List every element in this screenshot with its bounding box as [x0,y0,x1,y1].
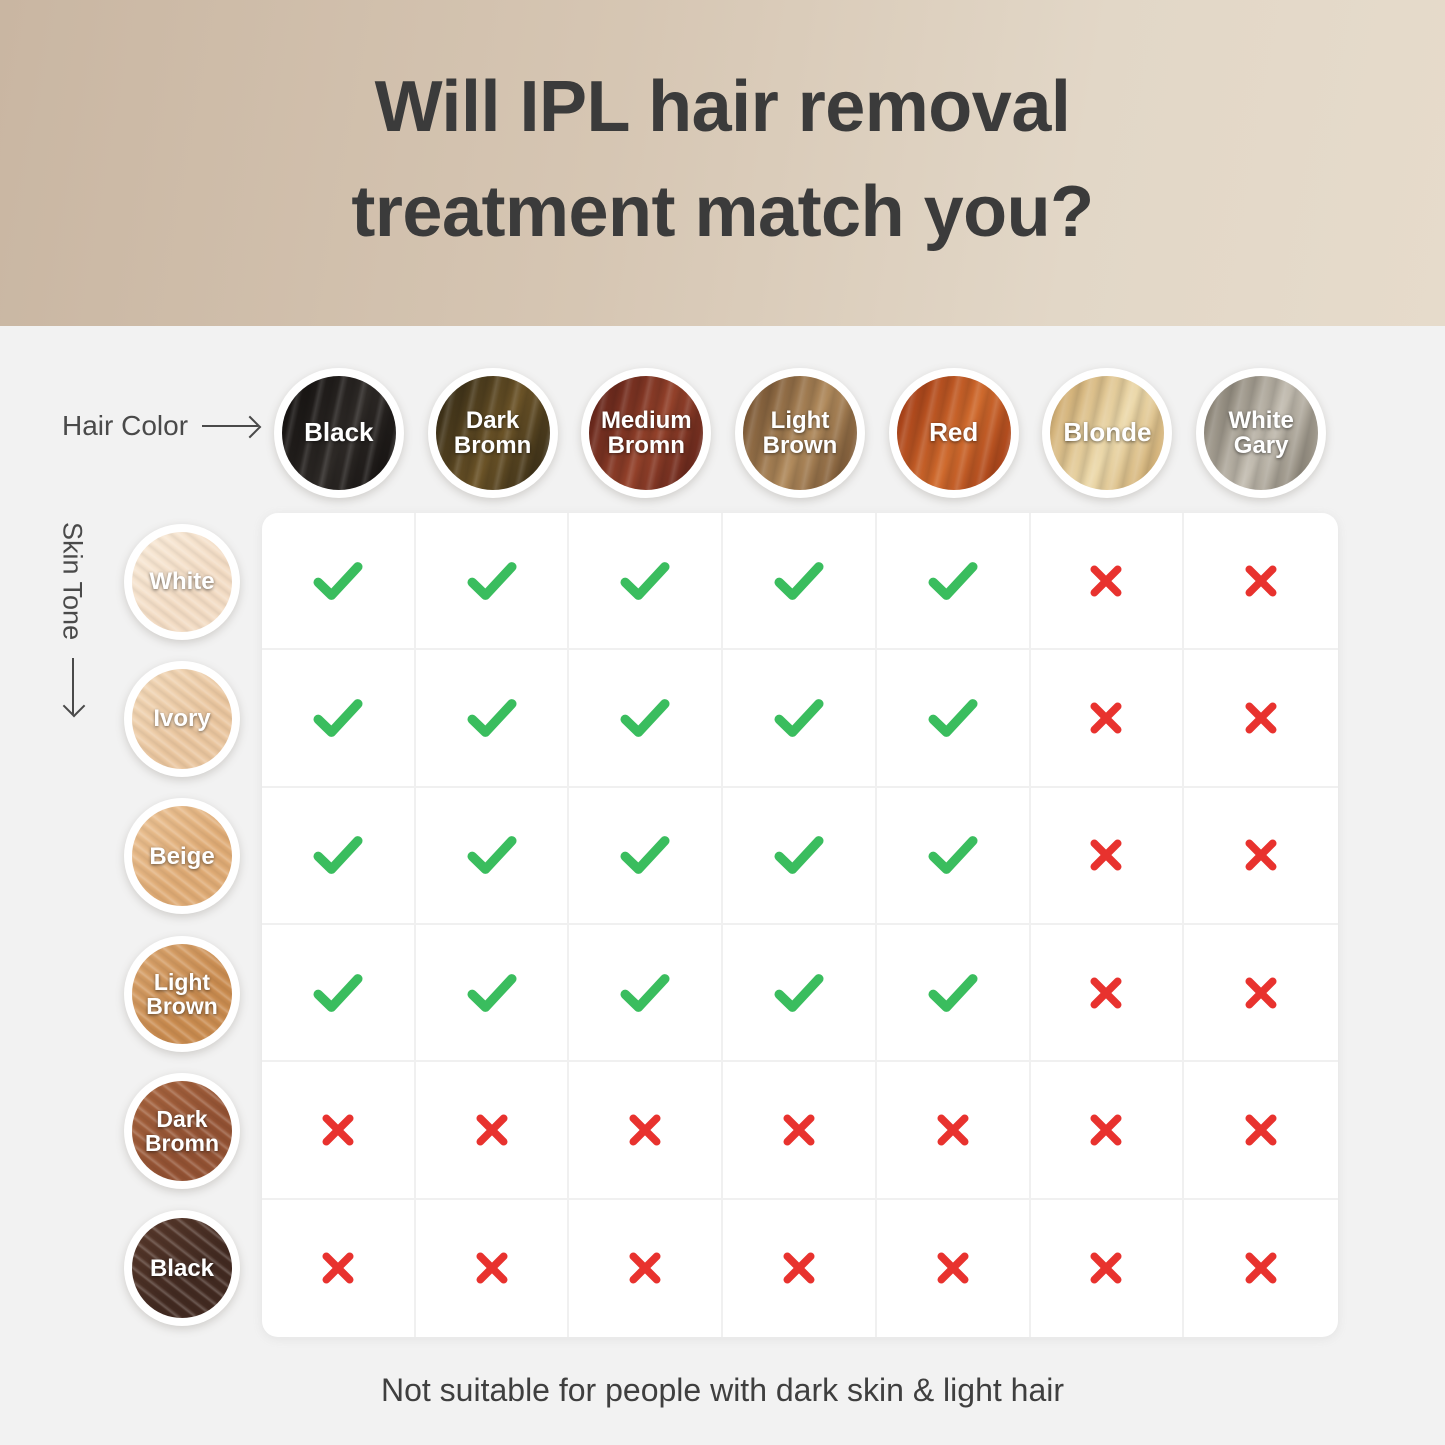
matrix-cell-beige-dark-bromn [416,788,570,925]
cross-icon [1086,973,1126,1013]
skin-tone-swatch-ivory: Ivory [124,661,240,777]
hair-color-label-text: Hair Color [62,410,188,442]
matrix-cell-black-medium-bromn [569,1200,723,1337]
check-icon [926,828,980,882]
matrix-cell-dark-bromn-light-brown [723,1062,877,1199]
hair-swatch-fill: WhiteGary [1204,376,1318,490]
compatibility-matrix [262,513,1338,1337]
cross-icon [1241,1110,1281,1150]
skin-tone-label-text: Skin Tone [57,522,88,640]
skin-tone-label: LightBrown [144,970,220,1018]
hair-swatch-fill: Black [282,376,396,490]
hair-color-swatch-dark-bromn: DarkBromn [428,368,558,498]
matrix-cell-beige-light-brown [723,788,877,925]
hair-color-axis-label: Hair Color [62,410,258,442]
check-icon [465,828,519,882]
skin-tone-swatch-beige: Beige [124,798,240,914]
hair-color-swatch-white-gary: WhiteGary [1196,368,1326,498]
check-icon [618,828,672,882]
arrow-right-icon [202,425,258,427]
matrix-cell-ivory-light-brown [723,650,877,787]
hair-color-swatch-red: Red [889,368,1019,498]
matrix-cell-ivory-red [877,650,1031,787]
hair-swatch-fill: MediumBromn [589,376,703,490]
skin-tone-label: White [147,569,216,594]
skin-tone-swatch-dark-bromn: DarkBromn [124,1073,240,1189]
matrix-cell-dark-bromn-dark-bromn [416,1062,570,1199]
cross-icon [1086,698,1126,738]
hair-color-label: MediumBromn [599,408,694,458]
matrix-cell-beige-medium-bromn [569,788,723,925]
matrix-cell-black-dark-bromn [416,1200,570,1337]
check-icon [465,966,519,1020]
matrix-cell-white-dark-bromn [416,513,570,650]
matrix-cell-white-black [262,513,416,650]
matrix-cell-white-light-brown [723,513,877,650]
skin-tone-swatch-white: White [124,524,240,640]
cross-icon [779,1110,819,1150]
cross-icon [318,1110,358,1150]
skin-tone-swatch-light-brown: LightBrown [124,936,240,1052]
skin-tone-swatch-black: Black [124,1210,240,1326]
hair-color-label: WhiteGary [1226,408,1295,458]
header-banner: Will IPL hair removal treatment match yo… [0,0,1445,326]
matrix-cell-black-blonde [1031,1200,1185,1337]
matrix-cell-light-brown-light-brown [723,925,877,1062]
matrix-cell-dark-bromn-medium-bromn [569,1062,723,1199]
page-title: Will IPL hair removal treatment match yo… [273,55,1173,271]
check-icon [772,966,826,1020]
check-icon [311,554,365,608]
matrix-cell-dark-bromn-red [877,1062,1031,1199]
skin-tone-axis-label: Skin Tone [46,522,98,714]
cross-icon [1241,1248,1281,1288]
cross-icon [1241,561,1281,601]
matrix-cell-light-brown-dark-bromn [416,925,570,1062]
check-icon [311,691,365,745]
matrix-cell-black-red [877,1200,1031,1337]
matrix-cell-beige-red [877,788,1031,925]
matrix-cell-white-red [877,513,1031,650]
cross-icon [1241,698,1281,738]
skin-tone-label: Ivory [151,706,212,731]
matrix-cell-beige-blonde [1031,788,1185,925]
matrix-cell-white-medium-bromn [569,513,723,650]
hair-color-swatch-blonde: Blonde [1042,368,1172,498]
hair-color-swatch-black: Black [274,368,404,498]
hair-color-swatch-medium-bromn: MediumBromn [581,368,711,498]
matrix-cell-black-black [262,1200,416,1337]
matrix-cell-light-brown-black [262,925,416,1062]
cross-icon [472,1248,512,1288]
cross-icon [625,1110,665,1150]
matrix-cell-light-brown-white-gary [1184,925,1338,1062]
footer-note: Not suitable for people with dark skin &… [0,1372,1445,1409]
cross-icon [1241,835,1281,875]
skin-swatch-fill: Beige [132,806,232,906]
cross-icon [779,1248,819,1288]
matrix-cell-dark-bromn-white-gary [1184,1062,1338,1199]
matrix-cell-white-blonde [1031,513,1185,650]
hair-color-label: Red [927,419,980,446]
matrix-cell-black-white-gary [1184,1200,1338,1337]
check-icon [465,554,519,608]
skin-swatch-fill: Ivory [132,669,232,769]
cross-icon [1086,561,1126,601]
check-icon [926,554,980,608]
cross-icon [933,1248,973,1288]
hair-swatch-fill: DarkBromn [436,376,550,490]
check-icon [618,554,672,608]
cross-icon [933,1110,973,1150]
arrow-down-icon [72,658,74,714]
check-icon [772,828,826,882]
hair-swatch-fill: Red [897,376,1011,490]
matrix-cell-dark-bromn-black [262,1062,416,1199]
matrix-cell-light-brown-blonde [1031,925,1185,1062]
skin-tone-label: DarkBromn [143,1107,221,1155]
skin-swatch-fill: DarkBromn [132,1081,232,1181]
hair-swatch-fill: Blonde [1050,376,1164,490]
matrix-cell-ivory-black [262,650,416,787]
matrix-cell-beige-black [262,788,416,925]
matrix-cell-beige-white-gary [1184,788,1338,925]
hair-color-label: LightBrown [761,408,840,458]
matrix-cell-light-brown-medium-bromn [569,925,723,1062]
check-icon [311,966,365,1020]
skin-tone-label: Black [148,1256,216,1281]
hair-color-label: Blonde [1061,419,1153,446]
hair-color-label: Black [302,419,375,446]
hair-color-swatch-light-brown: LightBrown [735,368,865,498]
check-icon [618,691,672,745]
hair-swatch-fill: LightBrown [743,376,857,490]
skin-swatch-fill: Black [132,1218,232,1318]
matrix-cell-ivory-blonde [1031,650,1185,787]
check-icon [772,554,826,608]
matrix-cell-dark-bromn-blonde [1031,1062,1185,1199]
cross-icon [1241,973,1281,1013]
matrix-cell-ivory-dark-bromn [416,650,570,787]
matrix-cell-light-brown-red [877,925,1031,1062]
check-icon [311,828,365,882]
cross-icon [472,1110,512,1150]
matrix-cell-ivory-medium-bromn [569,650,723,787]
cross-icon [1086,1110,1126,1150]
check-icon [772,691,826,745]
check-icon [618,966,672,1020]
matrix-cell-white-white-gary [1184,513,1338,650]
cross-icon [625,1248,665,1288]
matrix-cell-black-light-brown [723,1200,877,1337]
matrix-cell-ivory-white-gary [1184,650,1338,787]
skin-swatch-fill: White [132,532,232,632]
check-icon [465,691,519,745]
cross-icon [318,1248,358,1288]
cross-icon [1086,1248,1126,1288]
check-icon [926,966,980,1020]
cross-icon [1086,835,1126,875]
skin-tone-label: Beige [147,844,216,869]
skin-swatch-fill: LightBrown [132,944,232,1044]
check-icon [926,691,980,745]
hair-color-label: DarkBromn [452,408,533,458]
